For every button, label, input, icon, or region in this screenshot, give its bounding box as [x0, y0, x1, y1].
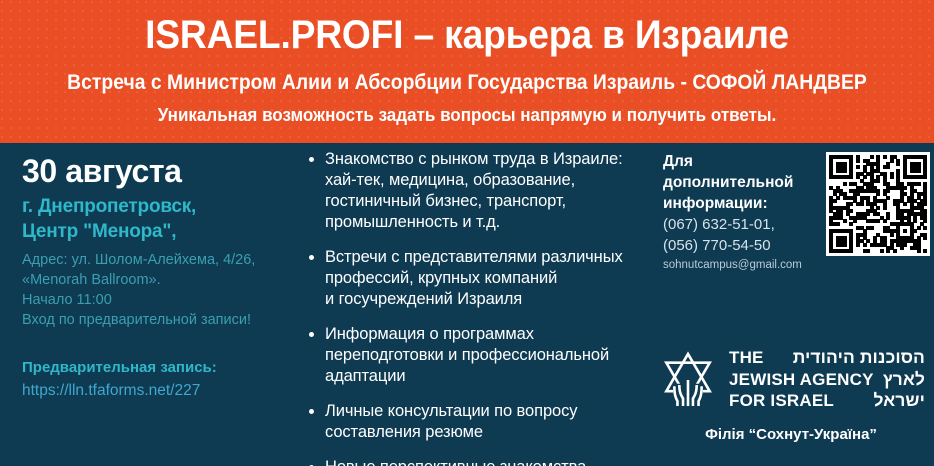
contact-email[interactable]: sohnutcampus@gmail.com — [663, 257, 823, 274]
banner-subtitle-primary: Встреча с Министром Алии и Абсорбции Гос… — [47, 69, 888, 95]
qr-code-icon[interactable] — [826, 152, 930, 256]
list-item: Встречи с представителями различныхпрофе… — [306, 247, 646, 310]
list-item-line: хай-тек, медицина, образование, — [325, 170, 646, 191]
list-item-line: гостиничный бизнес, транспорт, — [325, 191, 646, 212]
contact-heading-line3: информации: — [663, 193, 823, 214]
list-item: Знакомство с рынком труда в Израиле:хай-… — [306, 149, 646, 233]
list-item: Информация о программахпереподготовки и … — [306, 324, 646, 387]
logo-line-2: JEWISH AGENCY לארץ — [729, 369, 925, 391]
list-item-line: профессий, крупных компаний — [325, 268, 646, 289]
registration-label: Предварительная запись: — [22, 358, 307, 378]
contact-heading-line1: Для — [663, 151, 823, 172]
event-details-column: 30 августа г. Днепропетровск, Центр "Мен… — [22, 151, 307, 401]
logo-line-1-he: הסוכנות היהודית — [793, 347, 925, 369]
program-highlights-column: Знакомство с рынком труда в Израиле:хай-… — [306, 149, 646, 466]
event-address-street: Адрес: ул. Шолом-Алейхема, 4/26, — [22, 250, 307, 270]
event-start-time: Начало 11:00 — [22, 290, 307, 310]
logo-branch-label: Філія “Сохнут-Україна” — [657, 425, 925, 445]
banner-body: 30 августа г. Днепропетровск, Центр "Мен… — [0, 143, 934, 466]
event-address-block: Адрес: ул. Шолом-Алейхема, 4/26, «Menora… — [22, 250, 307, 330]
logo-line-2-en: JEWISH AGENCY — [729, 369, 874, 391]
banner-subtitle-secondary: Уникальная возможность задать вопросы на… — [37, 103, 896, 126]
event-venue-place: Центр "Менора", — [22, 219, 307, 244]
list-item-line: составления резюме — [325, 422, 646, 443]
list-item-line: Встречи с представителями различных — [325, 247, 646, 268]
list-item-line: и госучреждений Израиля — [325, 289, 646, 310]
logo-line-2-he: לארץ — [883, 369, 925, 391]
list-item-line: Знакомство с рынком труда в Израиле: — [325, 149, 646, 170]
logo-line-1-en: THE — [729, 347, 764, 369]
contact-phone-primary[interactable]: (067) 632-51-01, — [663, 214, 823, 235]
event-venue: г. Днепропетровск, Центр "Менора", — [22, 194, 307, 244]
contact-phone-secondary[interactable]: (056) 770-54-50 — [663, 235, 823, 256]
list-item: Личные консультации по вопросусоставлени… — [306, 401, 646, 443]
event-address-hall: «Menorah Ballroom». — [22, 270, 307, 290]
program-highlights-list: Знакомство с рынком труда в Израиле:хай-… — [306, 149, 646, 466]
event-banner: ISRAEL.PROFI – карьера в Израиле Встреча… — [0, 0, 934, 466]
logo-line-3-he: ישראל — [873, 390, 925, 412]
star-of-david-menorah-icon — [657, 349, 719, 411]
jewish-agency-logo: THE הסוכנות היהודית JEWISH AGENCY לארץ F… — [657, 347, 925, 452]
list-item-line: Новые перспективные знакомства — [325, 457, 646, 466]
list-item-line: переподготовки и профессиональной — [325, 345, 646, 366]
list-item-line: промышленность и т.д. — [325, 212, 646, 233]
logo-line-3: FOR ISRAEL ישראל — [729, 390, 925, 412]
event-entry-note: Вход по предварительной записи! — [22, 310, 307, 330]
banner-header: ISRAEL.PROFI – карьера в Израиле Встреча… — [0, 0, 934, 143]
list-item-line: Информация о программах — [325, 324, 646, 345]
registration-link[interactable]: https://lln.tfaforms.net/227 — [22, 380, 307, 401]
logo-line-1: THE הסוכנות היהודית — [729, 347, 925, 369]
list-item-line: адаптации — [325, 366, 646, 387]
event-venue-city: г. Днепропетровск, — [22, 194, 307, 219]
contact-column: Для дополнительной информации: (067) 632… — [663, 151, 823, 274]
contact-heading-line2: дополнительной — [663, 172, 823, 193]
jewish-agency-wordmark: THE הסוכנות היהודית JEWISH AGENCY לארץ F… — [729, 347, 925, 412]
qr-code-canvas — [826, 152, 930, 256]
list-item-line: Личные консультации по вопросу — [325, 401, 646, 422]
list-item: Новые перспективные знакомства — [306, 457, 646, 466]
event-date: 30 августа — [22, 151, 307, 191]
logo-line-3-en: FOR ISRAEL — [729, 390, 834, 412]
banner-title: ISRAEL.PROFI – карьера в Израиле — [33, 11, 902, 59]
